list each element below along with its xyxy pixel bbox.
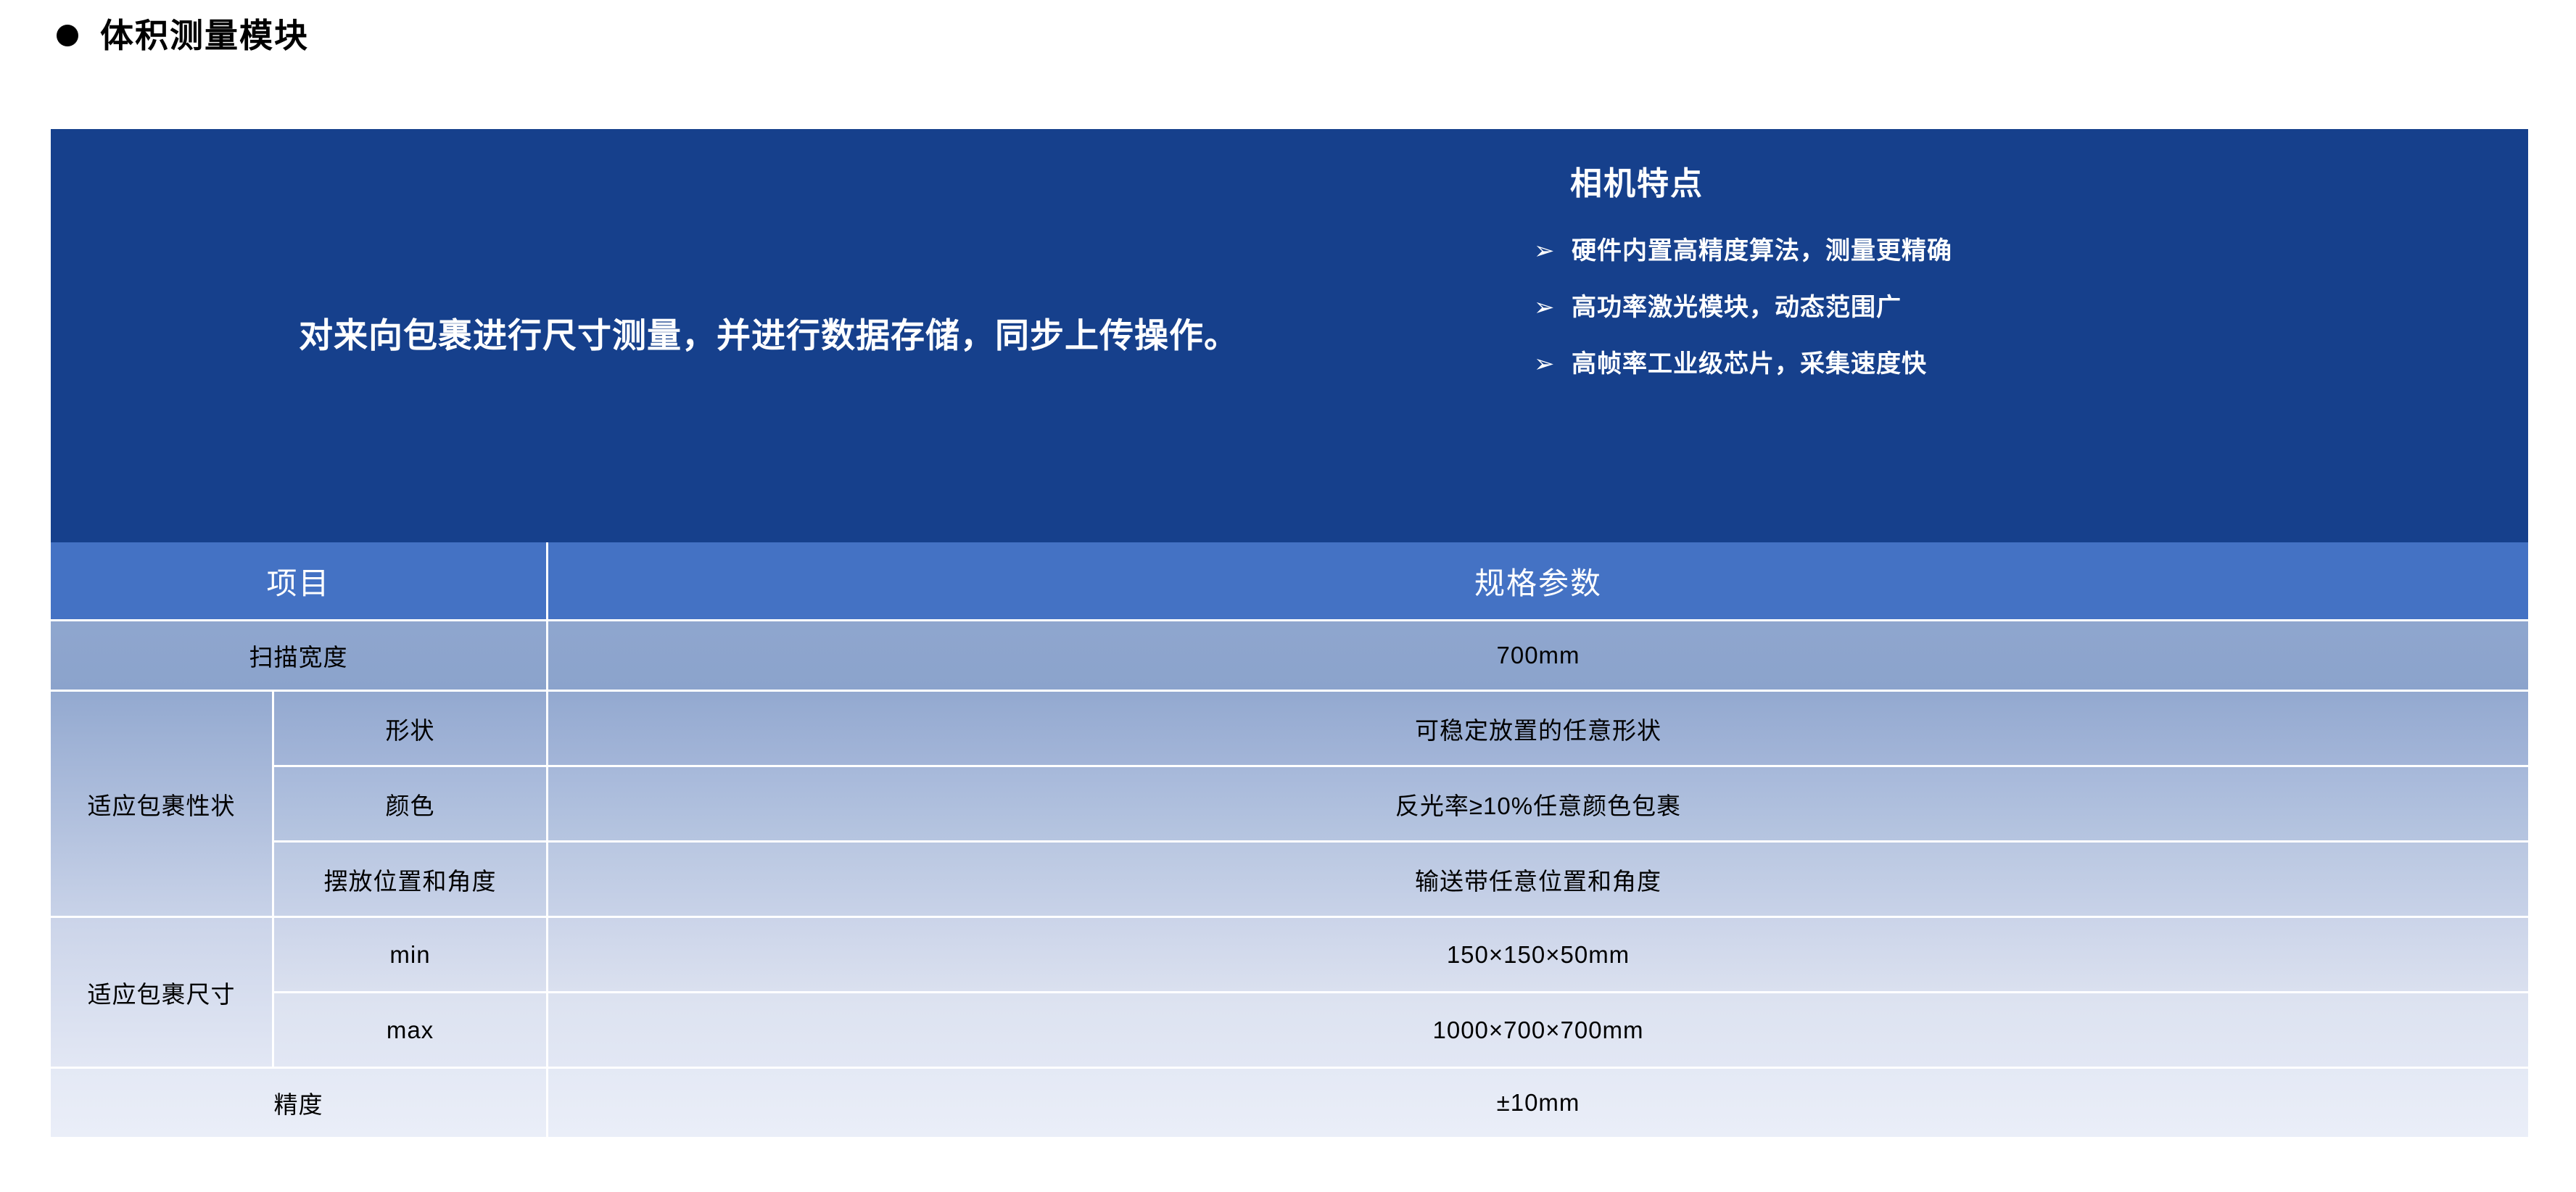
hero-description-block: 对来向包裹进行尺寸测量，并进行数据存储，同步上传操作。 [94, 129, 1472, 542]
feature-label: 硬件内置高精度算法，测量更精确 [1572, 236, 1952, 265]
bullet-point-icon [57, 25, 78, 46]
page-title: 体积测量模块 [57, 10, 309, 61]
row-label: max [274, 993, 548, 1069]
feature-label: 高帧率工业级芯片，采集速度快 [1572, 349, 1927, 378]
row-label: min [274, 918, 548, 993]
table-row: 适应包裹性状 形状 可稳定放置的任意形状 [51, 692, 2528, 767]
column-header-item: 项目 [51, 542, 548, 621]
camera-features-block: 相机特点 ➢ 硬件内置高精度算法，测量更精确 ➢ 高功率激光模块，动态范围广 ➢… [1534, 167, 2498, 378]
row-label: 摆放位置和角度 [274, 843, 548, 918]
feature-label: 高功率激光模块，动态范围广 [1572, 293, 1902, 322]
hero-description: 对来向包裹进行尺寸测量，并进行数据存储，同步上传操作。 [299, 313, 1239, 357]
table-row: 扫描宽度 700mm [51, 621, 2528, 692]
row-value: 1000×700×700mm [548, 993, 2528, 1069]
table-row: 颜色 反光率≥10%任意颜色包裹 [51, 767, 2528, 843]
table-row: 精度 ±10mm [51, 1069, 2528, 1139]
arrow-bullet-icon: ➢ [1534, 236, 1572, 265]
row-label: 精度 [51, 1069, 548, 1139]
row-label: 扫描宽度 [51, 621, 548, 692]
table-row: 适应包裹尺寸 min 150×150×50mm [51, 918, 2528, 993]
row-value: 反光率≥10%任意颜色包裹 [548, 767, 2528, 843]
table-header-row: 项目 规格参数 [51, 542, 2528, 621]
list-item: ➢ 硬件内置高精度算法，测量更精确 [1534, 236, 2498, 265]
arrow-bullet-icon: ➢ [1534, 293, 1572, 322]
hero-panel: 对来向包裹进行尺寸测量，并进行数据存储，同步上传操作。 相机特点 ➢ 硬件内置高… [51, 129, 2528, 542]
row-value: 可稳定放置的任意形状 [548, 692, 2528, 767]
camera-features-heading: 相机特点 [1570, 167, 2498, 202]
row-value: 700mm [548, 621, 2528, 692]
row-label: 形状 [274, 692, 548, 767]
page-title-text: 体积测量模块 [100, 19, 309, 52]
list-item: ➢ 高功率激光模块，动态范围广 [1534, 293, 2498, 322]
row-group-label: 适应包裹性状 [51, 692, 274, 918]
row-group-label: 适应包裹尺寸 [51, 918, 274, 1069]
camera-features-list: ➢ 硬件内置高精度算法，测量更精确 ➢ 高功率激光模块，动态范围广 ➢ 高帧率工… [1534, 236, 2498, 378]
row-value: 150×150×50mm [548, 918, 2528, 993]
list-item: ➢ 高帧率工业级芯片，采集速度快 [1534, 349, 2498, 378]
table-row: 摆放位置和角度 输送带任意位置和角度 [51, 843, 2528, 918]
row-label: 颜色 [274, 767, 548, 843]
row-value: 输送带任意位置和角度 [548, 843, 2528, 918]
table-row: max 1000×700×700mm [51, 993, 2528, 1069]
row-value: ±10mm [548, 1069, 2528, 1139]
specification-table: 项目 规格参数 扫描宽度 700mm 适应包裹性状 形状 可稳定放置的任意形状 … [51, 542, 2528, 1139]
arrow-bullet-icon: ➢ [1534, 349, 1572, 378]
column-header-spec: 规格参数 [548, 542, 2528, 621]
